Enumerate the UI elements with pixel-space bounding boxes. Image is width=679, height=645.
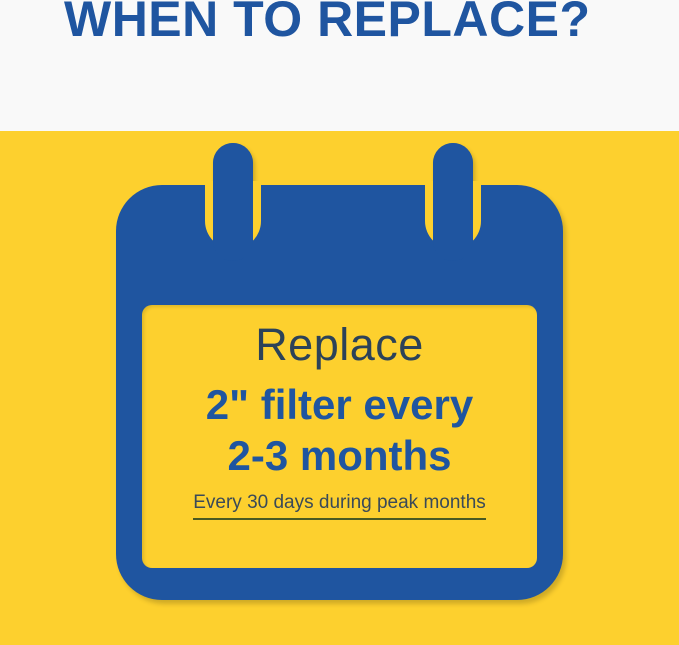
calendar-ring-right bbox=[433, 143, 473, 261]
calendar-ring-left bbox=[213, 143, 253, 261]
replace-interval-line-2: 2-3 months bbox=[227, 430, 451, 481]
poster-root: WHEN TO REPLACE? Replace 2" filter every… bbox=[0, 0, 679, 645]
header-band: WHEN TO REPLACE? bbox=[0, 0, 679, 131]
calendar-icon: Replace 2" filter every 2-3 months Every… bbox=[116, 185, 563, 600]
replace-interval-line-1: 2" filter every bbox=[206, 379, 473, 430]
yellow-stage: Replace 2" filter every 2-3 months Every… bbox=[0, 131, 679, 645]
calendar-page: Replace 2" filter every 2-3 months Every… bbox=[142, 305, 537, 568]
replace-eyebrow-text: Replace bbox=[255, 317, 424, 373]
page-title: WHEN TO REPLACE? bbox=[64, 0, 591, 48]
peak-months-note: Every 30 days during peak months bbox=[193, 491, 486, 520]
